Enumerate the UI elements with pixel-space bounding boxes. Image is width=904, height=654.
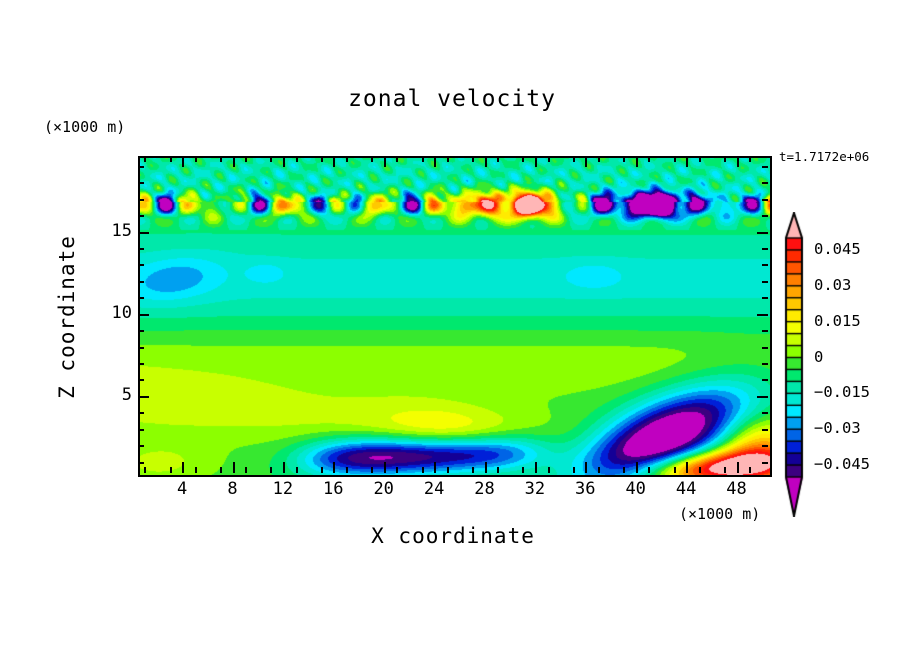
y-tick-minor-right — [762, 379, 768, 381]
y-tick-minor-right — [762, 297, 768, 299]
x-tick-major — [233, 462, 235, 473]
y-tick-minor — [138, 199, 144, 201]
y-tick-minor-right — [762, 445, 768, 447]
x-tick-major — [283, 462, 285, 473]
x-tick-major — [485, 462, 487, 473]
x-tick-minor-top — [195, 156, 197, 162]
y-axis-title: Z coordinate — [55, 222, 79, 412]
colorbar-label: 0.015 — [814, 312, 861, 330]
y-tick-minor-right — [762, 199, 768, 201]
colorbar — [783, 212, 805, 517]
x-tick-minor — [522, 467, 524, 473]
x-tick-label: 36 — [565, 479, 605, 499]
x-tick-minor-top — [749, 156, 751, 162]
x-tick-minor-top — [548, 156, 550, 162]
y-tick-minor-right — [762, 166, 768, 168]
x-tick-major-top — [585, 156, 587, 167]
y-tick-major — [138, 232, 149, 234]
y-tick-minor — [138, 347, 144, 349]
x-tick-minor-top — [296, 156, 298, 162]
y-tick-minor — [138, 363, 144, 365]
time-annotation: t=1.7172e+06 — [779, 149, 869, 164]
page-title: zonal velocity — [0, 86, 904, 112]
x-tick-minor — [598, 467, 600, 473]
x-tick-minor-top — [573, 156, 575, 162]
colorbar-label: −0.045 — [814, 455, 870, 473]
x-tick-minor-top — [245, 156, 247, 162]
x-tick-label: 24 — [414, 479, 454, 499]
x-tick-minor — [497, 467, 499, 473]
x-tick-minor-top — [674, 156, 676, 162]
x-tick-minor-top — [371, 156, 373, 162]
y-tick-minor-right — [762, 281, 768, 283]
y-tick-minor — [138, 379, 144, 381]
x-tick-label: 40 — [616, 479, 656, 499]
x-tick-major-top — [182, 156, 184, 167]
colorbar-label: 0 — [814, 348, 823, 366]
x-tick-major-top — [434, 156, 436, 167]
x-tick-minor-top — [598, 156, 600, 162]
x-tick-major — [636, 462, 638, 473]
x-tick-major — [686, 462, 688, 473]
y-tick-minor — [138, 248, 144, 250]
y-tick-major-right — [757, 396, 768, 398]
x-tick-major-top — [737, 156, 739, 167]
x-tick-minor-top — [220, 156, 222, 162]
y-tick-minor-right — [762, 347, 768, 349]
figure-canvas: zonal velocity (×1000 m) t=1.7172e+06 48… — [0, 0, 904, 654]
y-tick-minor — [138, 445, 144, 447]
x-tick-major — [384, 462, 386, 473]
x-tick-minor — [573, 467, 575, 473]
x-tick-minor — [548, 467, 550, 473]
y-tick-label: 10 — [92, 303, 132, 323]
colorbar-label: −0.015 — [814, 383, 870, 401]
x-tick-minor — [623, 467, 625, 473]
x-tick-minor-top — [472, 156, 474, 162]
x-tick-minor-top — [170, 156, 172, 162]
y-tick-minor-right — [762, 215, 768, 217]
y-tick-minor-right — [762, 248, 768, 250]
x-tick-minor-top — [497, 156, 499, 162]
x-tick-minor-top — [422, 156, 424, 162]
y-tick-minor — [138, 215, 144, 217]
x-tick-major — [182, 462, 184, 473]
colorbar-label: 0.045 — [814, 240, 861, 258]
x-tick-major-top — [283, 156, 285, 167]
y-axis-unit-label: (×1000 m) — [44, 118, 125, 136]
x-tick-major-top — [686, 156, 688, 167]
y-tick-minor — [138, 429, 144, 431]
x-tick-minor-top — [623, 156, 625, 162]
contour-field — [140, 158, 770, 475]
x-tick-minor — [170, 467, 172, 473]
x-tick-minor — [371, 467, 373, 473]
y-tick-minor — [138, 462, 144, 464]
x-tick-minor-top — [321, 156, 323, 162]
y-tick-minor-right — [762, 462, 768, 464]
colorbar-label: −0.03 — [814, 419, 861, 437]
x-tick-minor — [220, 467, 222, 473]
x-tick-label: 12 — [263, 479, 303, 499]
x-tick-minor — [447, 467, 449, 473]
y-tick-major-right — [757, 232, 768, 234]
x-tick-minor — [346, 467, 348, 473]
x-tick-major — [585, 462, 587, 473]
x-tick-minor-top — [346, 156, 348, 162]
x-tick-minor-top — [724, 156, 726, 162]
x-tick-minor — [144, 467, 146, 473]
x-tick-minor — [724, 467, 726, 473]
plot-area — [138, 156, 772, 477]
x-tick-minor-top — [522, 156, 524, 162]
x-tick-major — [333, 462, 335, 473]
x-tick-minor — [270, 467, 272, 473]
x-tick-major-top — [233, 156, 235, 167]
x-tick-minor — [422, 467, 424, 473]
y-tick-label: 15 — [92, 221, 132, 241]
x-tick-minor — [648, 467, 650, 473]
x-tick-minor — [195, 467, 197, 473]
x-tick-label: 28 — [465, 479, 505, 499]
x-tick-minor — [396, 467, 398, 473]
y-tick-minor — [138, 330, 144, 332]
x-tick-minor — [296, 467, 298, 473]
x-tick-major-top — [535, 156, 537, 167]
x-tick-label: 8 — [213, 479, 253, 499]
x-tick-major-top — [485, 156, 487, 167]
y-tick-minor — [138, 412, 144, 414]
y-tick-major — [138, 314, 149, 316]
x-tick-minor-top — [699, 156, 701, 162]
x-tick-minor-top — [648, 156, 650, 162]
y-tick-minor-right — [762, 182, 768, 184]
x-tick-label: 32 — [515, 479, 555, 499]
colorbar-gradient — [783, 212, 805, 517]
y-tick-minor-right — [762, 412, 768, 414]
x-tick-major — [434, 462, 436, 473]
y-tick-label: 5 — [92, 385, 132, 405]
x-axis-unit-label: (×1000 m) — [679, 505, 760, 523]
y-tick-major-right — [757, 314, 768, 316]
x-tick-major-top — [384, 156, 386, 167]
x-tick-major — [737, 462, 739, 473]
x-tick-minor — [699, 467, 701, 473]
y-tick-minor-right — [762, 363, 768, 365]
x-tick-label: 44 — [666, 479, 706, 499]
colorbar-label: 0.03 — [814, 276, 851, 294]
x-tick-minor — [674, 467, 676, 473]
y-tick-minor — [138, 281, 144, 283]
y-tick-minor-right — [762, 264, 768, 266]
x-tick-major-top — [636, 156, 638, 167]
x-tick-label: 20 — [364, 479, 404, 499]
x-tick-minor-top — [144, 156, 146, 162]
x-tick-minor-top — [270, 156, 272, 162]
y-tick-minor — [138, 166, 144, 168]
y-tick-minor-right — [762, 330, 768, 332]
x-tick-minor — [472, 467, 474, 473]
y-tick-minor — [138, 182, 144, 184]
y-tick-minor — [138, 297, 144, 299]
x-tick-minor-top — [396, 156, 398, 162]
x-tick-major — [535, 462, 537, 473]
x-tick-label: 16 — [313, 479, 353, 499]
x-tick-minor — [245, 467, 247, 473]
y-tick-minor — [138, 264, 144, 266]
y-tick-minor-right — [762, 429, 768, 431]
x-tick-label: 4 — [162, 479, 202, 499]
x-tick-minor-top — [447, 156, 449, 162]
x-tick-minor — [321, 467, 323, 473]
y-tick-major — [138, 396, 149, 398]
x-tick-major-top — [333, 156, 335, 167]
x-tick-label: 48 — [717, 479, 757, 499]
x-axis-title: X coordinate — [138, 524, 768, 548]
x-tick-minor — [749, 467, 751, 473]
